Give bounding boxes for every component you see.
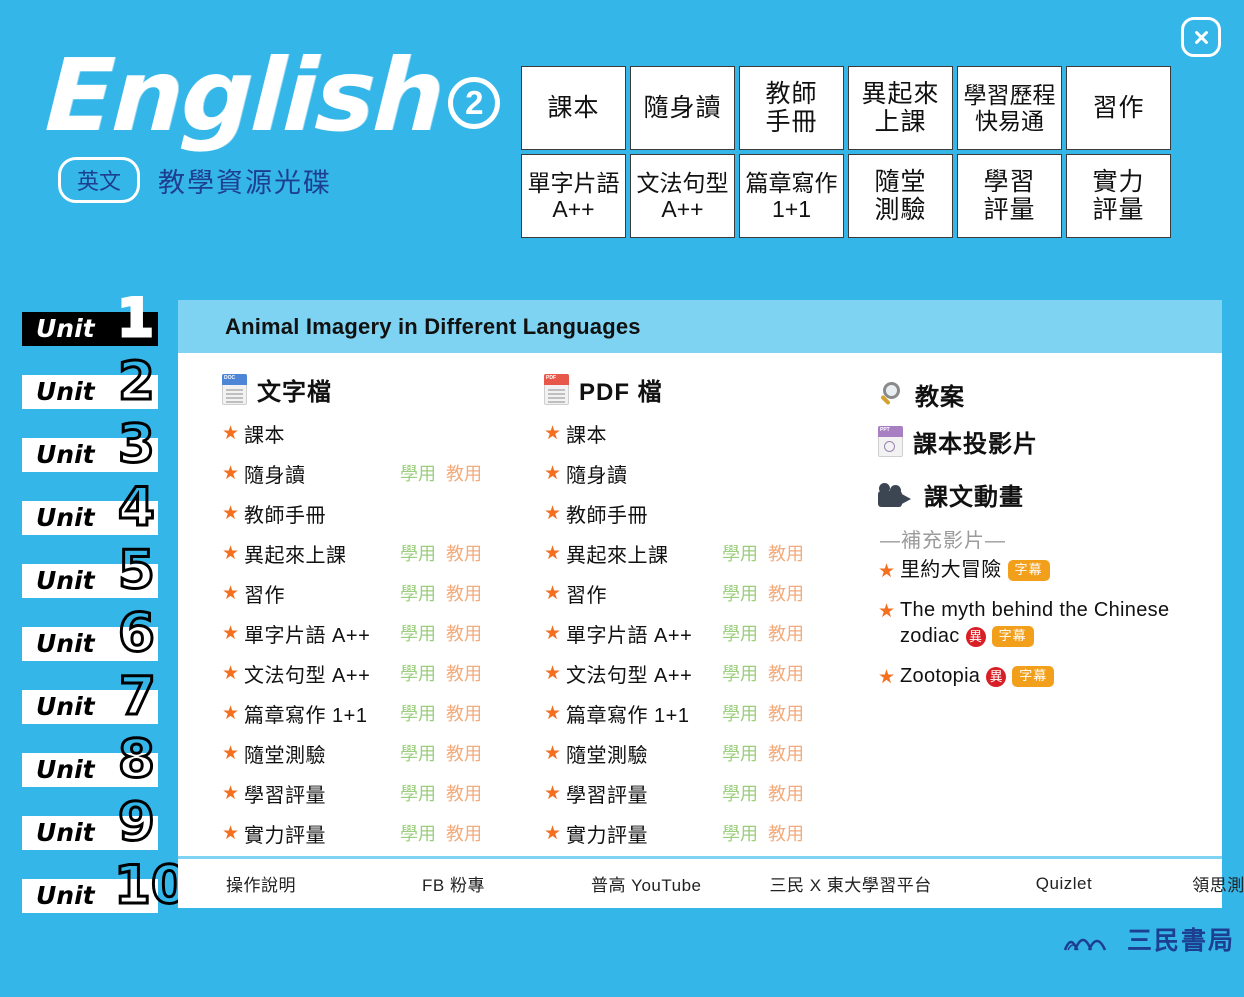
tag-group: 學用教用 bbox=[722, 660, 806, 686]
list-item-label: 異起來上課 bbox=[244, 539, 347, 568]
nav-button-label: 教師 bbox=[765, 80, 817, 109]
tag-teacher-use[interactable]: 教用 bbox=[446, 740, 482, 766]
unit-label: Unit bbox=[36, 503, 95, 532]
tag-group: 學用教用 bbox=[722, 620, 806, 646]
list-item[interactable]: ★單字片語 A++學用教用 bbox=[544, 613, 844, 653]
footer-link-2[interactable]: FB 粉專 bbox=[422, 871, 485, 896]
star-icon: ★ bbox=[544, 542, 566, 565]
arc-logo-icon bbox=[1063, 926, 1121, 952]
column-title-text: 文字檔 bbox=[257, 372, 332, 407]
tag-group: 學用教用 bbox=[400, 460, 484, 486]
nav-button-label: 異起來 bbox=[861, 80, 939, 109]
list-item-label: 實力評量 bbox=[244, 819, 326, 848]
tag-group: 學用教用 bbox=[722, 820, 806, 846]
nav-button-5[interactable]: 學習歷程快易通 bbox=[957, 66, 1062, 150]
star-icon: ★ bbox=[544, 662, 566, 685]
unit-number: 9 bbox=[118, 796, 155, 849]
nav-button-label: 上課 bbox=[874, 108, 926, 137]
list-item-label: 單字片語 A++ bbox=[566, 619, 692, 648]
video-title-wrap: The myth behind the Chinese zodiac異字幕 bbox=[900, 597, 1208, 649]
unit-number: 5 bbox=[118, 544, 155, 597]
tag-group: 學用教用 bbox=[722, 780, 806, 806]
star-icon: ★ bbox=[878, 560, 900, 583]
supplement-video-list: ★里約大冒險字幕★The myth behind the Chinese zod… bbox=[878, 557, 1208, 689]
tag-student-use[interactable]: 學用 bbox=[400, 620, 436, 646]
star-icon: ★ bbox=[222, 622, 244, 645]
tag-student-use[interactable]: 學用 bbox=[722, 820, 758, 846]
nav-button-label: 手冊 bbox=[765, 108, 817, 137]
product-subtitle: 教學資源光碟 bbox=[158, 161, 332, 200]
unit-label: Unit bbox=[36, 314, 95, 343]
list-item-label: 文法句型 A++ bbox=[244, 659, 370, 688]
nav-button-label: 評量 bbox=[983, 196, 1035, 225]
tag-teacher-use[interactable]: 教用 bbox=[768, 740, 804, 766]
list-item-label: 篇章寫作 1+1 bbox=[244, 699, 367, 728]
star-icon: ★ bbox=[544, 782, 566, 805]
list-item[interactable]: ★學習評量學用教用 bbox=[222, 773, 522, 813]
tag-teacher-use[interactable]: 教用 bbox=[768, 780, 804, 806]
list-item[interactable]: ★隨身讀 bbox=[544, 453, 844, 493]
column-heading-pdf-files: PDF PDF 檔 bbox=[544, 371, 844, 407]
star-icon: ★ bbox=[222, 822, 244, 845]
text-file-list: ★課本★隨身讀學用教用★教師手冊★異起來上課學用教用★習作學用教用★單字片語 A… bbox=[222, 413, 522, 853]
footer-link-4[interactable]: 三民 X 東大學習平台 bbox=[769, 871, 931, 896]
close-button[interactable] bbox=[1181, 17, 1221, 57]
supplement-video-item[interactable]: ★Zootopia異字幕 bbox=[878, 663, 1208, 689]
tag-teacher-use[interactable]: 教用 bbox=[768, 580, 804, 606]
supplement-video-item[interactable]: ★The myth behind the Chinese zodiac異字幕 bbox=[878, 597, 1208, 649]
nav-button-label: A++ bbox=[661, 196, 703, 222]
footer-link-6[interactable]: 領思測驗模擬題庫 bbox=[1192, 871, 1244, 896]
tag-student-use[interactable]: 學用 bbox=[722, 660, 758, 686]
nav-button-label: 隨堂 bbox=[874, 168, 926, 197]
yi-badge[interactable]: 異 bbox=[986, 667, 1006, 687]
unit-label: Unit bbox=[36, 440, 95, 469]
magnifier-icon bbox=[878, 381, 905, 408]
tag-teacher-use[interactable]: 教用 bbox=[446, 540, 482, 566]
list-item-label: 隨堂測驗 bbox=[566, 739, 648, 768]
list-item[interactable]: ★教師手冊 bbox=[544, 493, 844, 533]
star-icon: ★ bbox=[222, 662, 244, 685]
list-item-label: 學習評量 bbox=[244, 779, 326, 808]
pdf-file-list: ★課本★隨身讀★教師手冊★異起來上課學用教用★習作學用教用★單字片語 A++學用… bbox=[544, 413, 844, 853]
tag-student-use[interactable]: 學用 bbox=[400, 820, 436, 846]
sidebar-item-unit-10[interactable]: Unit10 bbox=[22, 867, 172, 930]
star-icon: ★ bbox=[222, 782, 244, 805]
tag-teacher-use[interactable]: 教用 bbox=[446, 700, 482, 726]
star-icon: ★ bbox=[544, 622, 566, 645]
nav-button-11[interactable]: 學習評量 bbox=[957, 154, 1062, 238]
tag-teacher-use[interactable]: 教用 bbox=[446, 660, 482, 686]
nav-button-10[interactable]: 隨堂測驗 bbox=[848, 154, 953, 238]
volume-number: 2 bbox=[448, 77, 500, 129]
unit-label: Unit bbox=[36, 629, 95, 658]
company-logo: 三民書局 bbox=[1063, 921, 1235, 957]
tag-student-use[interactable]: 學用 bbox=[722, 700, 758, 726]
supplement-video-item[interactable]: ★里約大冒險字幕 bbox=[878, 557, 1208, 583]
slides-label: 課本投影片 bbox=[913, 424, 1038, 459]
nav-button-label: 測驗 bbox=[874, 196, 926, 225]
tag-group: 學用教用 bbox=[400, 740, 484, 766]
star-icon: ★ bbox=[222, 742, 244, 765]
nav-button-3[interactable]: 教師手冊 bbox=[739, 66, 844, 150]
list-item[interactable]: ★教師手冊 bbox=[222, 493, 522, 533]
list-item[interactable]: ★隨身讀學用教用 bbox=[222, 453, 522, 493]
star-icon: ★ bbox=[544, 502, 566, 525]
star-icon: ★ bbox=[544, 582, 566, 605]
video-title: Zootopia bbox=[900, 665, 980, 687]
panel-header: Animal Imagery in Different Languages bbox=[178, 300, 1222, 353]
footer-link-5[interactable]: Quizlet bbox=[1036, 874, 1092, 894]
unit-number: 4 bbox=[118, 481, 155, 534]
tag-group: 學用教用 bbox=[722, 540, 806, 566]
list-item-label: 實力評量 bbox=[566, 819, 648, 848]
list-item[interactable]: ★學習評量學用教用 bbox=[544, 773, 844, 813]
list-item-label: 單字片語 A++ bbox=[244, 619, 370, 648]
subtitle-badge[interactable]: 字幕 bbox=[1008, 560, 1050, 581]
list-item[interactable]: ★篇章寫作 1+1學用教用 bbox=[222, 693, 522, 733]
company-name: 三民書局 bbox=[1127, 921, 1235, 957]
video-title: The myth behind the Chinese zodiac bbox=[900, 599, 1169, 647]
tag-group: 學用教用 bbox=[400, 660, 484, 686]
column-resources: 教案 PPT 課本投影片 課文動畫 —補充影片— ★里約大冒險字幕★The my… bbox=[878, 371, 1208, 703]
tag-student-use[interactable]: 學用 bbox=[722, 740, 758, 766]
nav-button-label: 學習歷程 bbox=[964, 82, 1056, 108]
resource-animation[interactable]: 課文動畫 bbox=[878, 471, 1208, 518]
tag-teacher-use[interactable]: 教用 bbox=[768, 820, 804, 846]
star-icon: ★ bbox=[222, 422, 244, 445]
tag-student-use[interactable]: 學用 bbox=[722, 540, 758, 566]
unit-label: Unit bbox=[36, 755, 95, 784]
subtitle-badge[interactable]: 字幕 bbox=[1012, 666, 1054, 687]
list-item-label: 教師手冊 bbox=[244, 499, 326, 528]
tag-student-use[interactable]: 學用 bbox=[722, 620, 758, 646]
list-item-label: 課本 bbox=[566, 419, 607, 448]
footer-link-3[interactable]: 普高 YouTube bbox=[591, 871, 702, 896]
tag-teacher-use[interactable]: 教用 bbox=[446, 580, 482, 606]
tag-group: 學用教用 bbox=[722, 740, 806, 766]
page-title: Animal Imagery in Different Languages bbox=[225, 314, 641, 340]
tag-group: 學用教用 bbox=[722, 580, 806, 606]
list-item-label: 隨身讀 bbox=[244, 459, 306, 488]
list-item[interactable]: ★篇章寫作 1+1學用教用 bbox=[544, 693, 844, 733]
star-icon: ★ bbox=[222, 462, 244, 485]
tag-student-use[interactable]: 學用 bbox=[400, 540, 436, 566]
unit-number: 10 bbox=[114, 859, 188, 912]
nav-button-label: 課本 bbox=[547, 94, 599, 123]
tag-student-use[interactable]: 學用 bbox=[400, 460, 436, 486]
tag-student-use[interactable]: 學用 bbox=[400, 580, 436, 606]
star-icon: ★ bbox=[222, 502, 244, 525]
tag-group: 學用教用 bbox=[722, 700, 806, 726]
nav-button-12[interactable]: 實力評量 bbox=[1066, 154, 1171, 238]
video-camera-icon bbox=[878, 482, 914, 508]
tag-teacher-use[interactable]: 教用 bbox=[768, 540, 804, 566]
star-icon: ★ bbox=[544, 462, 566, 485]
unit-label: Unit bbox=[36, 881, 95, 910]
list-item[interactable]: ★習作學用教用 bbox=[222, 573, 522, 613]
list-item[interactable]: ★文法句型 A++學用教用 bbox=[222, 653, 522, 693]
list-item[interactable]: ★隨堂測驗學用教用 bbox=[544, 733, 844, 773]
video-title-wrap: 里約大冒險字幕 bbox=[900, 557, 1050, 583]
brand-block: English 2 英文 教學資源光碟 bbox=[46, 48, 516, 203]
list-item-label: 習作 bbox=[566, 579, 607, 608]
unit-number: 8 bbox=[118, 733, 155, 786]
list-item[interactable]: ★異起來上課學用教用 bbox=[544, 533, 844, 573]
nav-button-label: 文法句型 bbox=[637, 170, 729, 196]
star-icon: ★ bbox=[222, 702, 244, 725]
ppt-file-icon: PPT bbox=[878, 426, 903, 457]
tag-group: 學用教用 bbox=[400, 580, 484, 606]
nav-button-4[interactable]: 異起來上課 bbox=[848, 66, 953, 150]
pdf-file-icon: PDF bbox=[544, 374, 569, 405]
tag-teacher-use[interactable]: 教用 bbox=[768, 660, 804, 686]
star-icon: ★ bbox=[878, 600, 900, 623]
nav-button-1[interactable]: 課本 bbox=[521, 66, 626, 150]
list-item[interactable]: ★異起來上課學用教用 bbox=[222, 533, 522, 573]
nav-button-label: 隨身讀 bbox=[643, 94, 721, 123]
list-item-label: 習作 bbox=[244, 579, 285, 608]
subtitle-badge[interactable]: 字幕 bbox=[992, 626, 1034, 647]
panel-body: DOC 文字檔 ★課本★隨身讀學用教用★教師手冊★異起來上課學用教用★習作學用教… bbox=[178, 353, 1222, 856]
unit-number: 6 bbox=[118, 607, 155, 660]
subtitle-row: 英文 教學資源光碟 bbox=[58, 157, 516, 203]
doc-file-icon: DOC bbox=[222, 374, 247, 405]
tag-teacher-use[interactable]: 教用 bbox=[768, 620, 804, 646]
column-heading-text-files: DOC 文字檔 bbox=[222, 371, 522, 407]
subject-badge: 英文 bbox=[58, 157, 140, 203]
tag-group: 學用教用 bbox=[400, 700, 484, 726]
star-icon: ★ bbox=[544, 702, 566, 725]
nav-button-label: 1+1 bbox=[772, 196, 811, 222]
footer-link-1[interactable]: 操作說明 bbox=[226, 871, 296, 896]
nav-button-label: 學習 bbox=[983, 168, 1035, 197]
panel-footer: 操作說明FB 粉專普高 YouTube三民 X 東大學習平台Quizlet領思測… bbox=[178, 859, 1222, 908]
nav-button-9[interactable]: 篇章寫作1+1 bbox=[739, 154, 844, 238]
tag-teacher-use[interactable]: 教用 bbox=[768, 700, 804, 726]
list-item-label: 文法句型 A++ bbox=[566, 659, 692, 688]
list-item[interactable]: ★實力評量學用教用 bbox=[544, 813, 844, 853]
video-title-wrap: Zootopia異字幕 bbox=[900, 663, 1054, 689]
nav-button-label: 評量 bbox=[1092, 196, 1144, 225]
list-item-label: 篇章寫作 1+1 bbox=[566, 699, 689, 728]
lesson-plan-label: 教案 bbox=[915, 377, 965, 412]
tag-student-use[interactable]: 學用 bbox=[722, 580, 758, 606]
unit-sidebar: Unit1Unit2Unit3Unit4Unit5Unit6Unit7Unit8… bbox=[22, 300, 172, 930]
star-icon: ★ bbox=[544, 742, 566, 765]
unit-label: Unit bbox=[36, 377, 95, 406]
unit-number: 1 bbox=[117, 292, 154, 345]
nav-button-6[interactable]: 習作 bbox=[1066, 66, 1171, 150]
animation-label: 課文動畫 bbox=[924, 477, 1024, 512]
tag-teacher-use[interactable]: 教用 bbox=[446, 780, 482, 806]
star-icon: ★ bbox=[544, 422, 566, 445]
tag-student-use[interactable]: 學用 bbox=[400, 740, 436, 766]
star-icon: ★ bbox=[544, 822, 566, 845]
nav-button-label: 篇章寫作 bbox=[746, 170, 838, 196]
list-item[interactable]: ★課本 bbox=[544, 413, 844, 453]
nav-button-label: 習作 bbox=[1092, 94, 1144, 123]
list-item[interactable]: ★習作學用教用 bbox=[544, 573, 844, 613]
nav-button-label: A++ bbox=[552, 196, 594, 222]
nav-button-2[interactable]: 隨身讀 bbox=[630, 66, 735, 150]
resource-lesson-plan[interactable]: 教案 bbox=[878, 371, 1208, 418]
column-text-files: DOC 文字檔 ★課本★隨身讀學用教用★教師手冊★異起來上課學用教用★習作學用教… bbox=[222, 371, 522, 853]
list-item-label: 隨身讀 bbox=[566, 459, 628, 488]
nav-button-8[interactable]: 文法句型A++ bbox=[630, 154, 735, 238]
list-item[interactable]: ★實力評量學用教用 bbox=[222, 813, 522, 853]
content-panel: Animal Imagery in Different Languages DO… bbox=[178, 300, 1222, 908]
nav-button-label: 快易通 bbox=[975, 108, 1044, 134]
logo-row: English 2 bbox=[46, 48, 516, 143]
star-icon: ★ bbox=[878, 666, 900, 689]
column-pdf-files: PDF PDF 檔 ★課本★隨身讀★教師手冊★異起來上課學用教用★習作學用教用★… bbox=[544, 371, 844, 853]
list-item-label: 異起來上課 bbox=[566, 539, 669, 568]
app-title: English bbox=[44, 48, 445, 143]
tag-group: 學用教用 bbox=[400, 540, 484, 566]
list-item-label: 學習評量 bbox=[566, 779, 648, 808]
tag-teacher-use[interactable]: 教用 bbox=[446, 460, 482, 486]
tag-student-use[interactable]: 學用 bbox=[400, 660, 436, 686]
tag-teacher-use[interactable]: 教用 bbox=[446, 820, 482, 846]
tag-group: 學用教用 bbox=[400, 780, 484, 806]
unit-label: Unit bbox=[36, 566, 95, 595]
list-item[interactable]: ★文法句型 A++學用教用 bbox=[544, 653, 844, 693]
tag-student-use[interactable]: 學用 bbox=[400, 780, 436, 806]
unit-number: 3 bbox=[118, 418, 155, 471]
tag-student-use[interactable]: 學用 bbox=[722, 780, 758, 806]
video-title: 里約大冒險 bbox=[900, 559, 1002, 581]
tag-group: 學用教用 bbox=[400, 820, 484, 846]
list-item-label: 教師手冊 bbox=[566, 499, 648, 528]
tag-student-use[interactable]: 學用 bbox=[400, 700, 436, 726]
list-item-label: 課本 bbox=[244, 419, 285, 448]
unit-label: Unit bbox=[36, 818, 95, 847]
column-title-pdf: PDF 檔 bbox=[579, 372, 663, 407]
nav-button-label: 實力 bbox=[1092, 168, 1144, 197]
list-item[interactable]: ★課本 bbox=[222, 413, 522, 453]
supplement-divider: —補充影片— bbox=[880, 524, 1208, 553]
unit-number: 7 bbox=[119, 670, 156, 723]
tag-teacher-use[interactable]: 教用 bbox=[446, 620, 482, 646]
top-nav-grid: 課本隨身讀教師手冊異起來上課學習歷程快易通習作單字片語A++文法句型A++篇章寫… bbox=[521, 66, 1171, 238]
unit-number: 2 bbox=[118, 355, 155, 408]
list-item-label: 隨堂測驗 bbox=[244, 739, 326, 768]
star-icon: ★ bbox=[222, 582, 244, 605]
tag-group: 學用教用 bbox=[400, 620, 484, 646]
list-item[interactable]: ★單字片語 A++學用教用 bbox=[222, 613, 522, 653]
resource-slides[interactable]: PPT 課本投影片 bbox=[878, 418, 1208, 465]
star-icon: ★ bbox=[222, 542, 244, 565]
nav-button-7[interactable]: 單字片語A++ bbox=[521, 154, 626, 238]
list-item[interactable]: ★隨堂測驗學用教用 bbox=[222, 733, 522, 773]
yi-badge[interactable]: 異 bbox=[966, 627, 986, 647]
nav-button-label: 單字片語 bbox=[528, 170, 620, 196]
unit-label: Unit bbox=[36, 692, 95, 721]
